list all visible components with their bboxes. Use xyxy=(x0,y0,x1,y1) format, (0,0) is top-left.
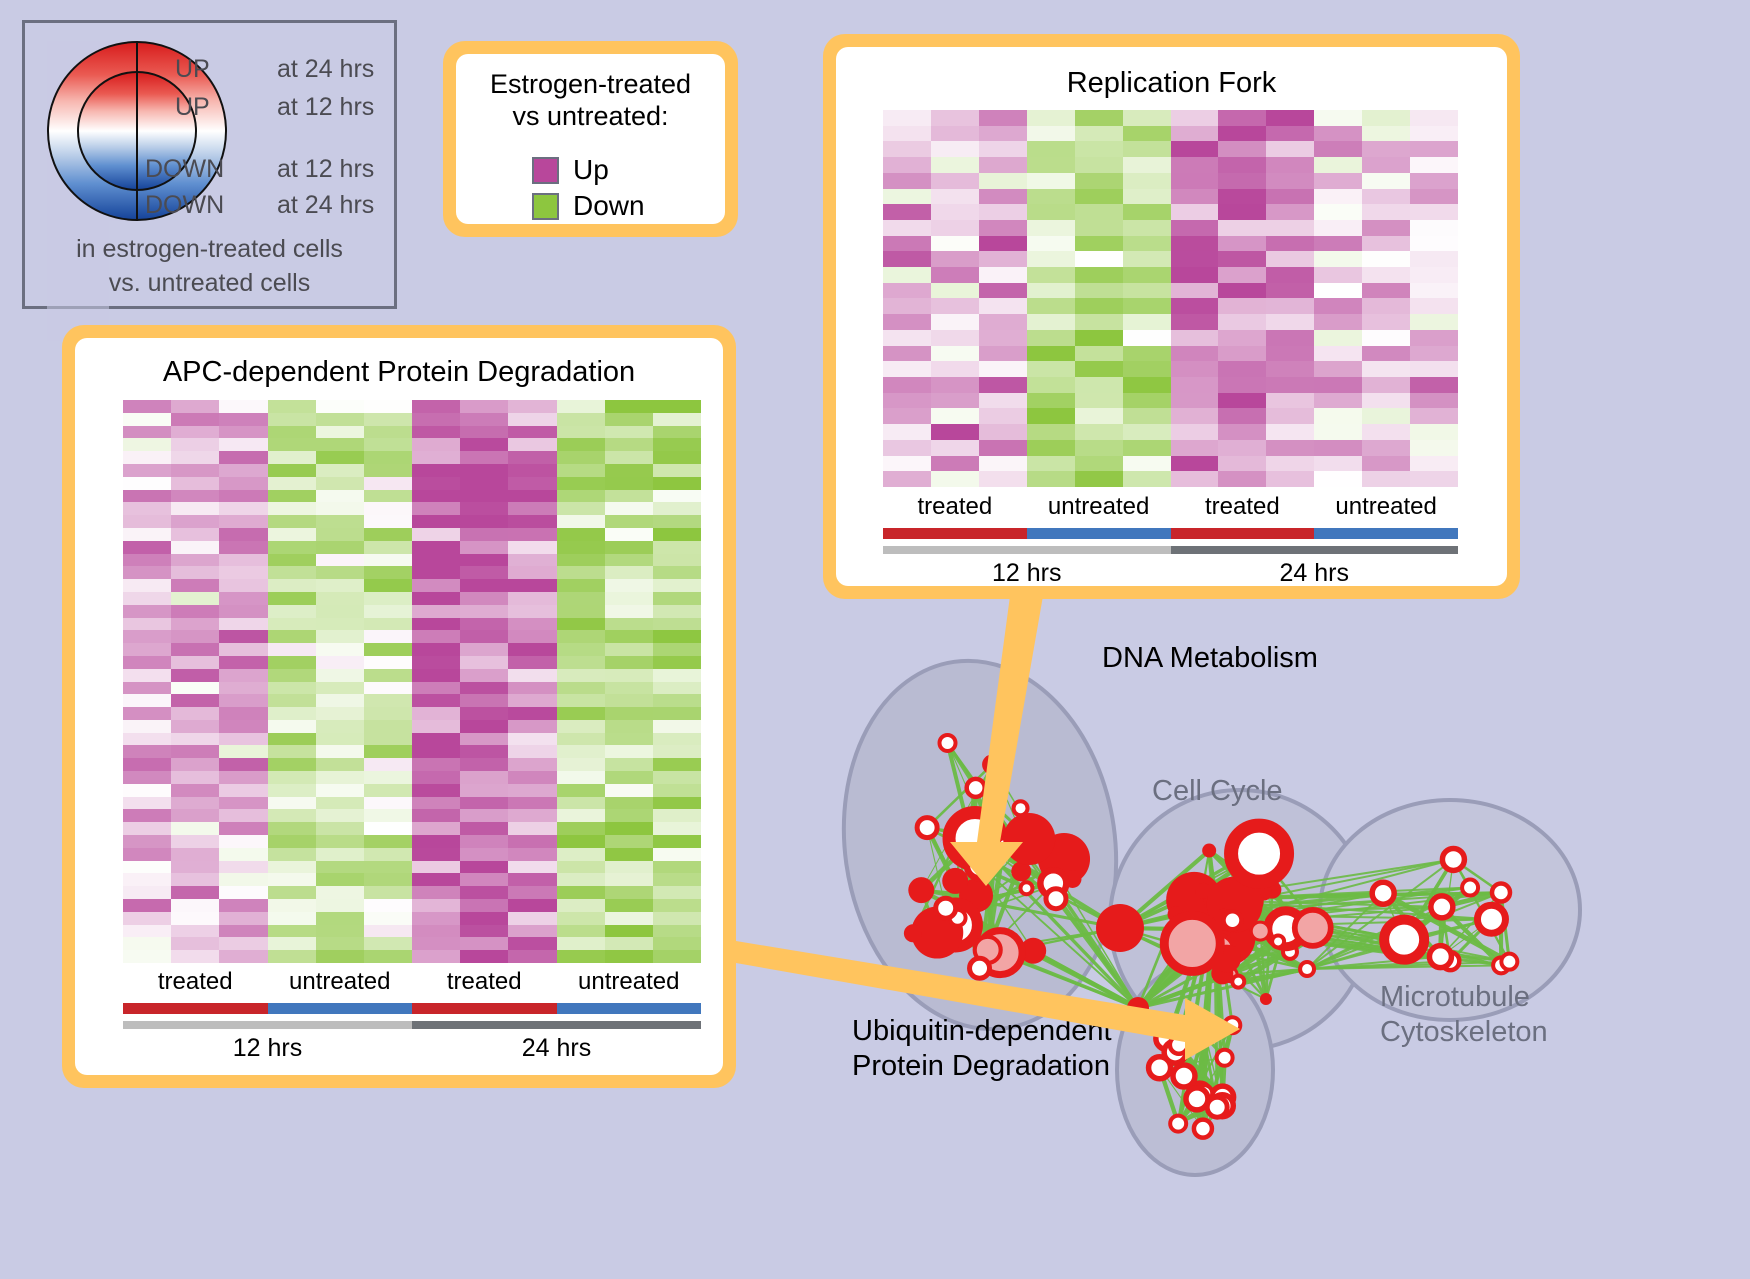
arrow-apc-to-ubiquitin-cluster xyxy=(736,941,1240,1060)
figure-canvas: UP at 24 hrs UP at 12 hrs DOWN at 12 hrs… xyxy=(0,0,1750,1279)
connector-arrows xyxy=(0,0,1750,1279)
arrow-replication-fork-to-dna-metabolism xyxy=(950,596,1043,886)
